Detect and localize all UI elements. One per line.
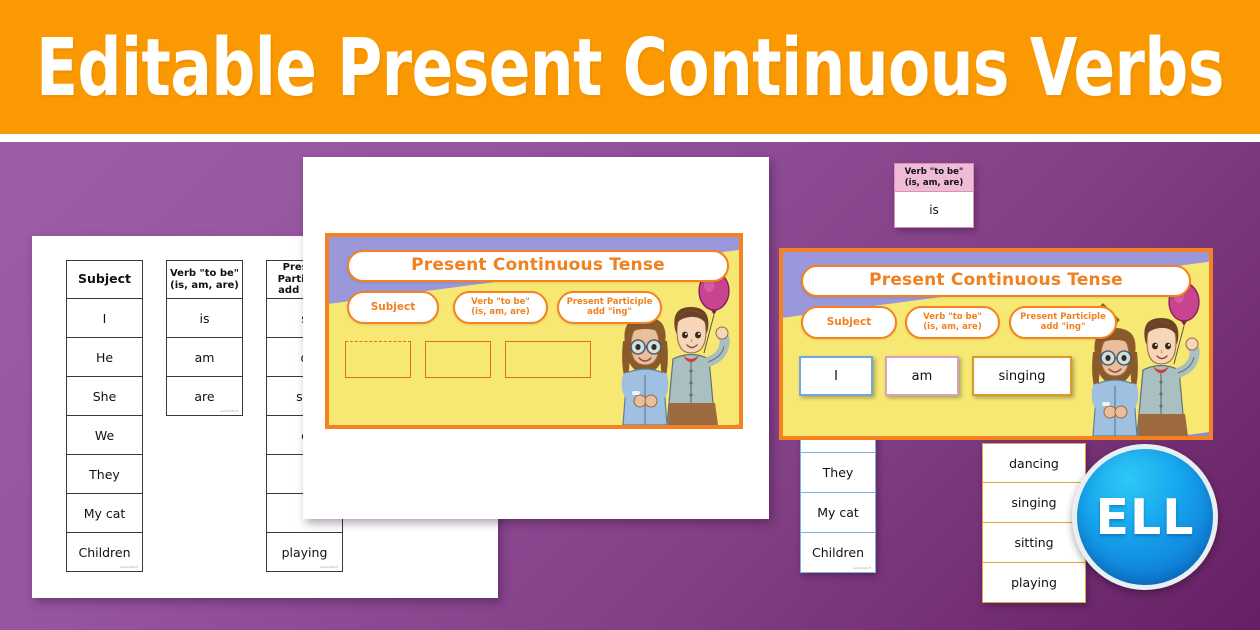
verb-cell-label: are bbox=[194, 389, 214, 404]
right-participle-cell[interactable]: singing bbox=[982, 483, 1086, 523]
ell-badge-label: ELL bbox=[1096, 489, 1195, 546]
right-subject-cell[interactable]: Children eslkidstuff bbox=[800, 533, 876, 573]
participle-cell-label: playing bbox=[282, 545, 328, 560]
verb-header-line1: Verb "to be" bbox=[170, 268, 239, 280]
dropbox-participle[interactable] bbox=[505, 341, 591, 378]
subject-cell[interactable]: I bbox=[66, 299, 143, 338]
right-subject-cell[interactable]: They bbox=[800, 453, 876, 493]
verb-cell[interactable]: is bbox=[166, 299, 243, 338]
verb-strip-header: Verb "to be" (is, am, are) bbox=[166, 260, 243, 299]
right-participle-cell[interactable]: playing bbox=[982, 563, 1086, 603]
girl-figure bbox=[1092, 328, 1138, 436]
boy-figure bbox=[667, 307, 728, 425]
label-pill-participle[interactable]: Present Participle add "ing" bbox=[1009, 306, 1117, 339]
label-pill-subject[interactable]: Subject bbox=[347, 291, 439, 324]
label-verb-line2: (is, am, are) bbox=[923, 323, 981, 333]
label-pill-subject[interactable]: Subject bbox=[801, 306, 897, 339]
right-participle-cell[interactable]: dancing bbox=[982, 443, 1086, 483]
label-pill-participle[interactable]: Present Participle add "ing" bbox=[557, 291, 662, 324]
subject-strip: Subject I He She We They My cat Children… bbox=[66, 260, 143, 572]
label-pill-verb[interactable]: Verb "to be" (is, am, are) bbox=[453, 291, 548, 324]
answer-participle[interactable]: singing bbox=[972, 356, 1072, 396]
label-verb-line2: (is, am, are) bbox=[471, 308, 529, 318]
right-participle-strip: dancing singing sitting playing bbox=[982, 443, 1086, 603]
watermark: eslkidstuff bbox=[320, 565, 338, 569]
page-title: Editable Present Continuous Verbs bbox=[6, 0, 1253, 153]
watermark: eslkidstuff bbox=[120, 565, 138, 569]
card-title-pill: Present Continuous Tense bbox=[347, 250, 729, 282]
kids-illustration bbox=[591, 265, 741, 425]
verb-mini-card: Verb "to be" (is, am, are) is bbox=[894, 163, 974, 228]
verb-mini-card-header: Verb "to be" (is, am, are) bbox=[894, 163, 974, 192]
label-pill-verb[interactable]: Verb "to be" (is, am, are) bbox=[905, 306, 1000, 339]
verb-cell[interactable]: am bbox=[166, 338, 243, 377]
activity-card-filled: Present Continuous Tense Subject Verb "t… bbox=[779, 248, 1213, 440]
ell-badge[interactable]: ELL bbox=[1072, 444, 1218, 590]
answer-verb[interactable]: am bbox=[885, 356, 959, 396]
girl-figure bbox=[622, 317, 668, 425]
subject-cell[interactable]: They bbox=[66, 455, 143, 494]
right-subject-cell[interactable]: My cat bbox=[800, 493, 876, 533]
subject-cell[interactable]: He bbox=[66, 338, 143, 377]
participle-cell[interactable]: playing eslkidstuff bbox=[266, 533, 343, 572]
center-worksheet-sheet: Present Continuous Tense Subject Verb "t… bbox=[303, 157, 769, 519]
dropbox-subject[interactable] bbox=[345, 341, 411, 378]
subject-cell[interactable]: We bbox=[66, 416, 143, 455]
kids-illustration bbox=[1061, 276, 1211, 436]
right-participle-cell[interactable]: sitting bbox=[982, 523, 1086, 563]
label-subject-line1: Subject bbox=[371, 302, 416, 314]
card-title-pill: Present Continuous Tense bbox=[801, 265, 1191, 297]
boy-figure bbox=[1137, 318, 1198, 436]
watermark: eslkidstuff bbox=[220, 409, 238, 413]
subject-strip-header: Subject bbox=[66, 260, 143, 299]
title-banner: Editable Present Continuous Verbs bbox=[0, 0, 1260, 134]
activity-card-blank: Present Continuous Tense Subject Verb "t… bbox=[325, 233, 743, 429]
dropbox-verb[interactable] bbox=[425, 341, 491, 378]
verb-cell[interactable]: are eslkidstuff bbox=[166, 377, 243, 416]
subject-cell-label: Children bbox=[78, 545, 130, 560]
right-subject-cell-label: Children bbox=[812, 545, 864, 560]
label-participle-line2: add "ing" bbox=[1041, 323, 1086, 333]
subject-cell[interactable]: Children eslkidstuff bbox=[66, 533, 143, 572]
subject-cell[interactable]: She bbox=[66, 377, 143, 416]
verb-mini-card-cell[interactable]: is bbox=[894, 192, 974, 228]
label-subject-line1: Subject bbox=[827, 317, 872, 329]
screenshot-stage: Editable Present Continuous Verbs Subjec… bbox=[0, 0, 1260, 630]
verb-mini-header-line2: (is, am, are) bbox=[905, 178, 963, 188]
right-subject-strip: They My cat Children eslkidstuff bbox=[800, 432, 876, 573]
verb-header-line2: (is, am, are) bbox=[170, 280, 239, 292]
verb-mini-header-line1: Verb "to be" bbox=[905, 167, 964, 177]
watermark: eslkidstuff bbox=[853, 566, 871, 570]
answer-subject[interactable]: I bbox=[799, 356, 873, 396]
card-content: Present Continuous Tense Subject Verb "t… bbox=[329, 237, 739, 425]
label-participle-line2: add "ing" bbox=[587, 308, 632, 318]
verb-strip: Verb "to be" (is, am, are) is am are esl… bbox=[166, 260, 243, 416]
subject-cell[interactable]: My cat bbox=[66, 494, 143, 533]
card-content: Present Continuous Tense Subject Verb "t… bbox=[783, 252, 1209, 436]
